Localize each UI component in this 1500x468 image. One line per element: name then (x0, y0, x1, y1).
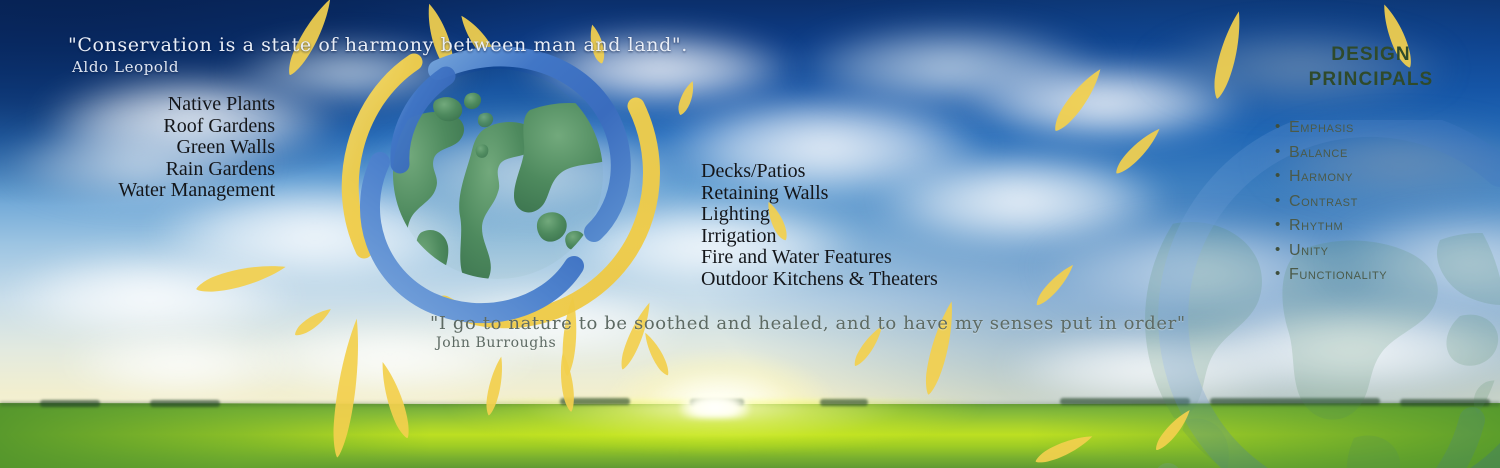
hardscape-services-list: Decks/PatiosRetaining WallsLightingIrrig… (701, 161, 938, 290)
design-principle-item: Unity (1275, 239, 1487, 264)
quote-bottom-text: "I go to nature to be soothed and healed… (430, 313, 1186, 334)
design-heading-line-2: PRINCIPALS (1255, 67, 1487, 92)
yellow-leaf-petal (1048, 63, 1109, 136)
hardscape-service-item: Retaining Walls (701, 183, 938, 205)
hardscape-service-item: Lighting (701, 204, 938, 226)
design-principle-item: Balance (1275, 141, 1487, 166)
design-principals-list: EmphasisBalanceHarmonyContrastRhythmUnit… (1255, 116, 1487, 288)
banner-canvas: "Conservation is a state of harmony betw… (0, 0, 1500, 468)
yellow-leaf-petal (1032, 260, 1079, 309)
sustainable-service-item: Native Plants (0, 94, 275, 116)
quote-top-author: Aldo Leopold (72, 58, 179, 76)
design-principle-item: Contrast (1275, 190, 1487, 215)
yellow-leaf-petal (482, 355, 508, 417)
design-heading-line-1: DESIGN (1255, 42, 1487, 67)
design-principals-panel: DESIGN PRINCIPALS EmphasisBalanceHarmony… (1255, 42, 1487, 288)
yellow-leaf-petal (374, 359, 416, 441)
hardscape-service-item: Decks/Patios (701, 161, 938, 183)
design-principle-item: Harmony (1275, 165, 1487, 190)
design-principle-item: Rhythm (1275, 214, 1487, 239)
yellow-leaf-petal (326, 317, 367, 459)
design-principle-item: Functionality (1275, 263, 1487, 288)
yellow-leaf-petal (194, 256, 289, 300)
yellow-leaf-petal (1111, 123, 1166, 179)
yellow-leaf-petal (1032, 429, 1095, 468)
quote-bottom-author: John Burroughs (436, 335, 556, 351)
yellow-leaf-petal (639, 330, 673, 378)
quote-top-text: "Conservation is a state of harmony betw… (68, 34, 688, 56)
sustainable-service-item: Roof Gardens (0, 116, 275, 138)
green-world-globe-logo (318, 36, 678, 336)
sustainable-service-item: Water Management (0, 180, 275, 202)
hardscape-service-item: Outdoor Kitchens & Theaters (701, 269, 938, 291)
sustainable-services-list: Native PlantsRoof GardensGreen WallsRain… (0, 94, 275, 202)
design-principals-heading: DESIGN PRINCIPALS (1255, 42, 1487, 92)
design-principle-item: Emphasis (1275, 116, 1487, 141)
yellow-leaf-petal (1151, 406, 1195, 455)
yellow-leaf-petal (1207, 9, 1248, 101)
sustainable-service-item: Green Walls (0, 137, 275, 159)
sustainable-service-item: Rain Gardens (0, 159, 275, 181)
hardscape-service-item: Fire and Water Features (701, 247, 938, 269)
hardscape-service-item: Irrigation (701, 226, 938, 248)
